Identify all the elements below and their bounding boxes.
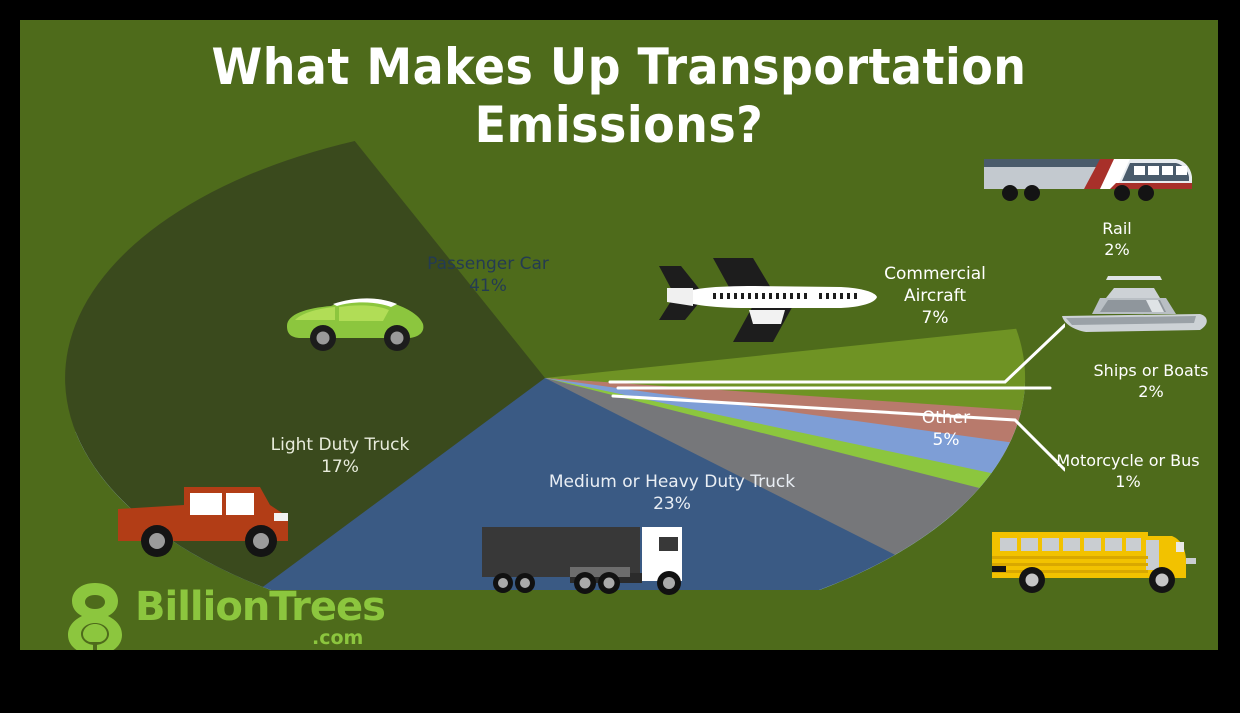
callout-rail: Rail 2%	[1042, 218, 1192, 260]
boat-icon	[1050, 270, 1215, 348]
train-icon	[980, 145, 1195, 205]
callout-rail-pct: 2%	[1104, 240, 1129, 259]
infographic-poster: What Makes Up Transportation Emissions?	[20, 20, 1218, 650]
airplane-icon	[645, 250, 895, 360]
screenshot-root: What Makes Up Transportation Emissions?	[0, 0, 1240, 713]
label-commercial-aircraft: Commercial Aircraft 7%	[860, 264, 1010, 329]
callout-motorcycle-or-bus: Motorcycle or Bus 1%	[1048, 450, 1208, 492]
label-light-duty-truck-text: Light Duty Truck	[271, 435, 410, 455]
label-commercial-aircraft-text: Commercial Aircraft	[884, 264, 986, 306]
label-other-text: Other	[922, 408, 970, 428]
semi-truck-icon	[470, 515, 710, 610]
pie-chart	[65, 120, 1065, 590]
logo-name: BillionTrees	[135, 584, 385, 630]
label-light-duty-truck: Light Duty Truck 17%	[235, 435, 445, 479]
callout-motorcycle-or-bus-text: Motorcycle or Bus	[1056, 451, 1199, 470]
label-commercial-aircraft-pct: 7%	[860, 308, 1010, 330]
callout-motorcycle-or-bus-pct: 1%	[1115, 472, 1140, 491]
logo-domain: .com	[312, 627, 363, 649]
label-heavy-duty-truck: Medium or Heavy Duty Truck 23%	[507, 472, 837, 516]
callout-ships-or-boats-text: Ships or Boats	[1094, 361, 1209, 380]
label-other-pct: 5%	[882, 430, 1010, 452]
logo[interactable]: BillionTrees .com	[60, 580, 390, 650]
callout-ships-or-boats: Ships or Boats 2%	[1066, 360, 1218, 402]
label-passenger-car-text: Passenger Car	[427, 254, 549, 274]
eight-billion-trees-mark-icon	[60, 580, 130, 650]
label-heavy-duty-truck-pct: 23%	[507, 494, 837, 516]
school-bus-icon	[980, 518, 1205, 600]
label-passenger-car: Passenger Car 41%	[368, 254, 608, 298]
logo-wordmark: BillionTrees	[135, 584, 385, 630]
label-passenger-car-pct: 41%	[368, 276, 608, 298]
callout-rail-text: Rail	[1102, 219, 1131, 238]
callout-ships-or-boats-pct: 2%	[1138, 382, 1163, 401]
pickup-truck-icon	[110, 465, 310, 565]
label-heavy-duty-truck-text: Medium or Heavy Duty Truck	[549, 472, 795, 492]
label-light-duty-truck-pct: 17%	[235, 457, 445, 479]
label-other: Other 5%	[882, 408, 1010, 452]
